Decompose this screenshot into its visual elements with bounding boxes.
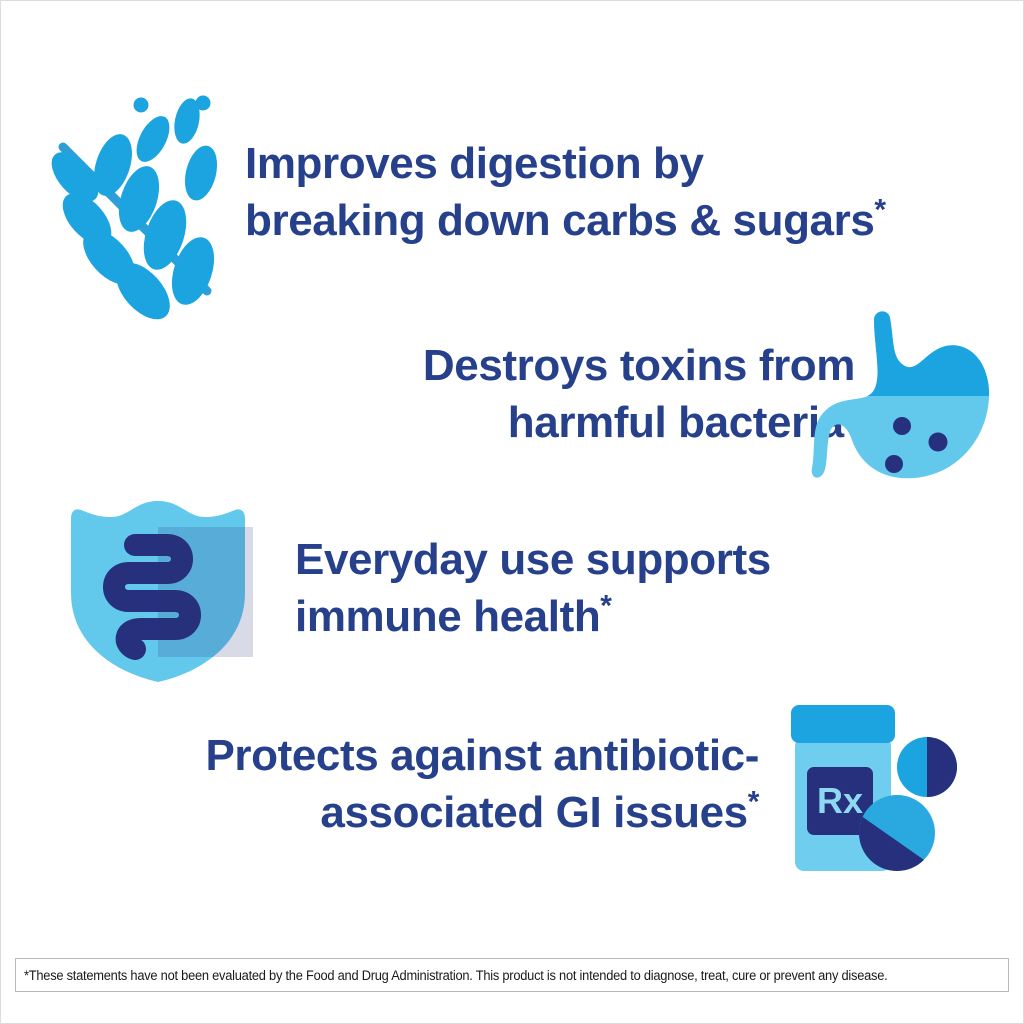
- benefit-row-digestion: Improves digestion by breaking down carb…: [35, 87, 995, 302]
- benefit-row-toxins: Destroys toxins from harmful bacteria*: [35, 301, 995, 491]
- benefit-text-immune-main: Everyday use supports immune health: [295, 535, 771, 641]
- benefit-text-toxins: Destroys toxins from harmful bacteria*: [135, 337, 855, 451]
- benefit-text-antibiotic-main: Protects against antibiotic- associated …: [205, 731, 759, 837]
- benefit-text-immune: Everyday use supports immune health*: [295, 531, 995, 645]
- benefit-row-antibiotic: Protects against antibiotic- associated …: [35, 691, 995, 886]
- shield-intestine-icon: [63, 497, 253, 685]
- pill-bottle-rx-icon: Rx: [787, 701, 977, 876]
- benefit-text-antibiotic: Protects against antibiotic- associated …: [59, 727, 759, 841]
- wheat-grain-icon: [35, 95, 235, 295]
- footnote-marker: *: [600, 590, 611, 623]
- fda-disclaimer-box: *These statements have not been evaluate…: [15, 958, 1009, 992]
- infographic-canvas: Improves digestion by breaking down carb…: [0, 0, 1024, 1024]
- stomach-icon: [810, 306, 995, 488]
- footnote-marker: *: [874, 194, 885, 227]
- pill-bottle-rx-label: Rx: [817, 780, 863, 821]
- pill-small: [897, 737, 959, 799]
- footnote-marker: *: [748, 786, 759, 819]
- benefit-row-immune: Everyday use supports immune health*: [35, 491, 995, 691]
- benefit-text-toxins-main: Destroys toxins from harmful bacteria: [423, 341, 855, 447]
- benefit-text-digestion: Improves digestion by breaking down carb…: [245, 135, 1005, 249]
- fda-disclaimer-text: *These statements have not been evaluate…: [24, 968, 887, 983]
- benefit-text-digestion-main: Improves digestion by breaking down carb…: [245, 139, 874, 245]
